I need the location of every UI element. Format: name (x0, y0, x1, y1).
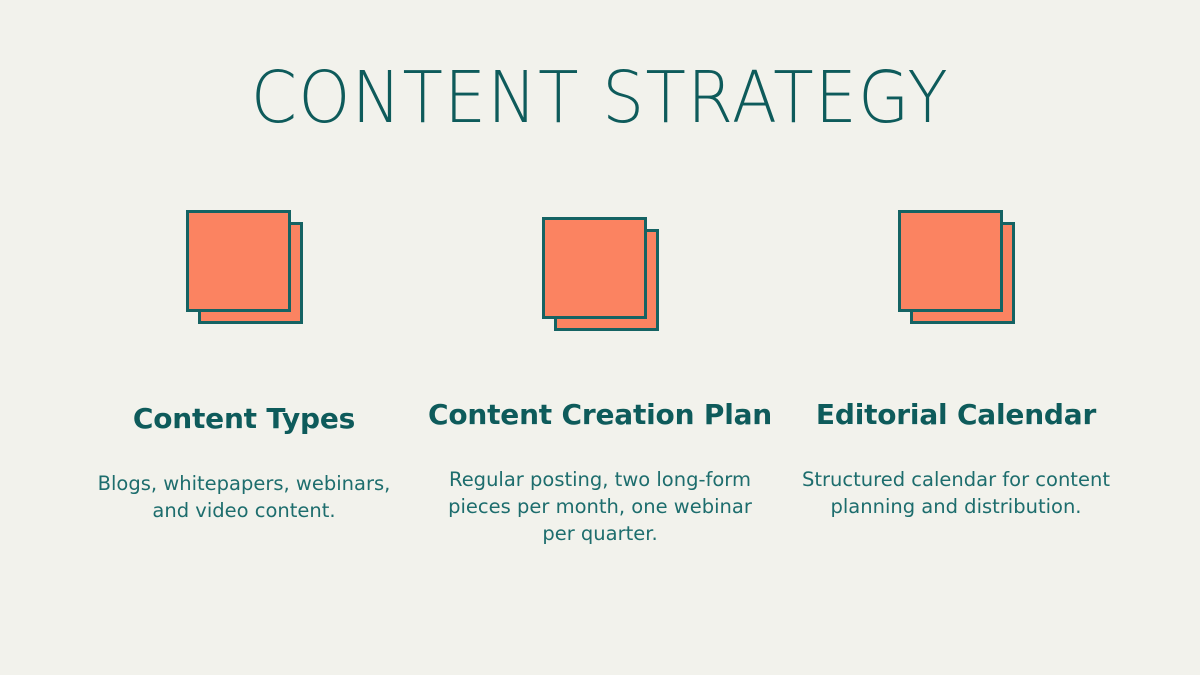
square-front-shape (898, 210, 1003, 312)
content-column-content-types: Content Types Blogs, whitepapers, webina… (66, 206, 422, 524)
column-heading: Content Creation Plan (428, 399, 772, 431)
presentation-slide: CONTENT STRATEGY Content Types Blogs, wh… (0, 0, 1200, 675)
content-columns: Content Types Blogs, whitepapers, webina… (0, 206, 1200, 547)
stacked-squares-icon (539, 213, 661, 335)
content-column-editorial-calendar: Editorial Calendar Structured calendar f… (778, 206, 1134, 520)
content-column-content-creation-plan: Content Creation Plan Regular posting, t… (422, 206, 778, 547)
column-heading: Editorial Calendar (816, 399, 1096, 431)
page-title: CONTENT STRATEGY (42, 62, 1158, 133)
column-body-text: Structured calendar for content planning… (791, 466, 1121, 520)
stacked-squares-icon (183, 206, 305, 331)
column-heading: Content Types (133, 403, 355, 435)
stacked-squares-icon (895, 206, 1017, 328)
square-front-shape (186, 210, 291, 312)
column-body-text: Regular posting, two long-form pieces pe… (439, 466, 761, 547)
column-body-text: Blogs, whitepapers, webinars, and video … (88, 470, 400, 524)
square-front-shape (542, 217, 647, 319)
